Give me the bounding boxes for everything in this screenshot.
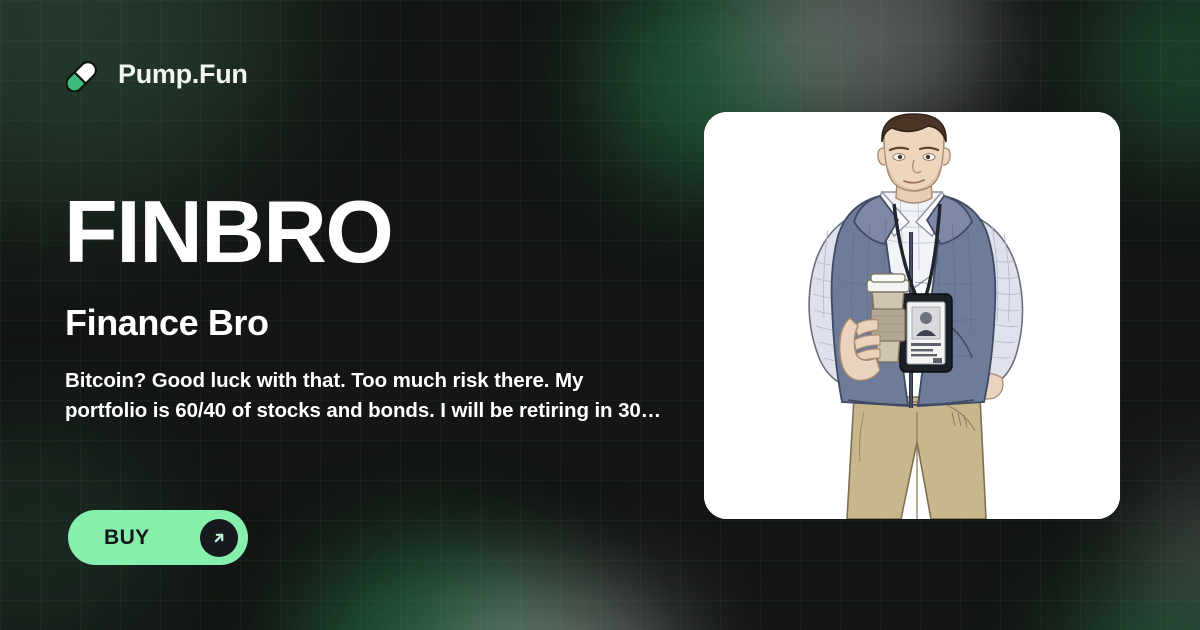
buy-button[interactable]: BUY <box>68 510 248 565</box>
brand-name: Pump.Fun <box>118 61 248 88</box>
token-name: Finance Bro <box>65 303 269 343</box>
buy-button-label: BUY <box>104 526 150 550</box>
token-ticker: FINBRO <box>64 188 392 276</box>
share-card-canvas: Pump.Fun FINBRO Finance Bro Bitcoin? Goo… <box>0 0 1200 630</box>
token-description: Bitcoin? Good luck with that. Too much r… <box>65 366 665 426</box>
arrow-up-right-icon <box>200 519 238 557</box>
brand-logo[interactable]: Pump.Fun <box>66 56 248 92</box>
finance-bro-illustration <box>704 112 1120 519</box>
token-artwork-card[interactable] <box>704 112 1120 519</box>
pill-icon <box>66 56 102 92</box>
